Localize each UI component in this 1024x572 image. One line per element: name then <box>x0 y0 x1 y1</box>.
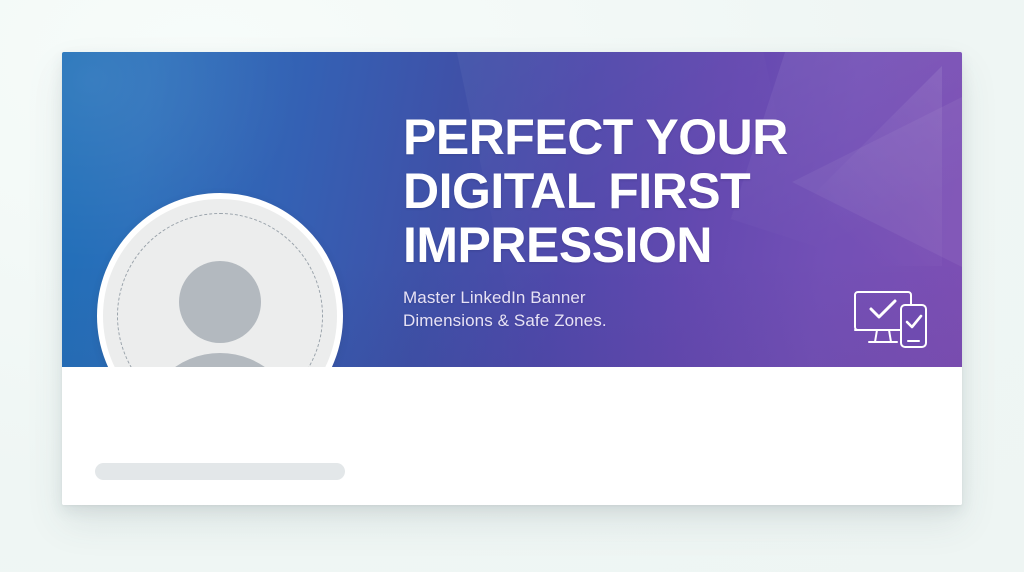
profile-card: PERFECT YOUR DIGITAL FIRST IMPRESSION Ma… <box>62 52 962 505</box>
avatar-silhouette-head <box>179 261 261 343</box>
banner-subhead-line-1: Master LinkedIn Banner <box>403 286 873 309</box>
name-placeholder-alt-text: Profile name placeholder <box>95 463 96 464</box>
banner-subhead: Master LinkedIn Banner Dimensions & Safe… <box>403 286 873 332</box>
name-placeholder-bar: Profile name placeholder <box>95 463 345 480</box>
banner-subhead-line-2: Dimensions & Safe Zones. <box>403 309 873 332</box>
monitor-checkmark-icon <box>871 301 895 317</box>
profile-avatar[interactable]: Profile photo placeholder <box>97 193 343 367</box>
profile-card-body: Profile name placeholder <box>62 367 962 505</box>
banner-headline: PERFECT YOUR DIGITAL FIRST IMPRESSION <box>403 110 873 272</box>
banner-copy-block: PERFECT YOUR DIGITAL FIRST IMPRESSION Ma… <box>403 110 873 332</box>
desktop-and-mobile-check-icon-svg <box>852 289 930 349</box>
banner-headline-line-2: DIGITAL FIRST <box>403 164 873 218</box>
avatar-alt-text: Profile photo placeholder <box>103 199 104 200</box>
monitor-stand <box>875 330 891 342</box>
desktop-and-mobile-check-icon <box>852 289 930 349</box>
banner-headline-line-1: PERFECT YOUR <box>403 110 873 164</box>
banner-headline-line-3: IMPRESSION <box>403 218 873 272</box>
profile-banner[interactable]: PERFECT YOUR DIGITAL FIRST IMPRESSION Ma… <box>62 52 962 367</box>
